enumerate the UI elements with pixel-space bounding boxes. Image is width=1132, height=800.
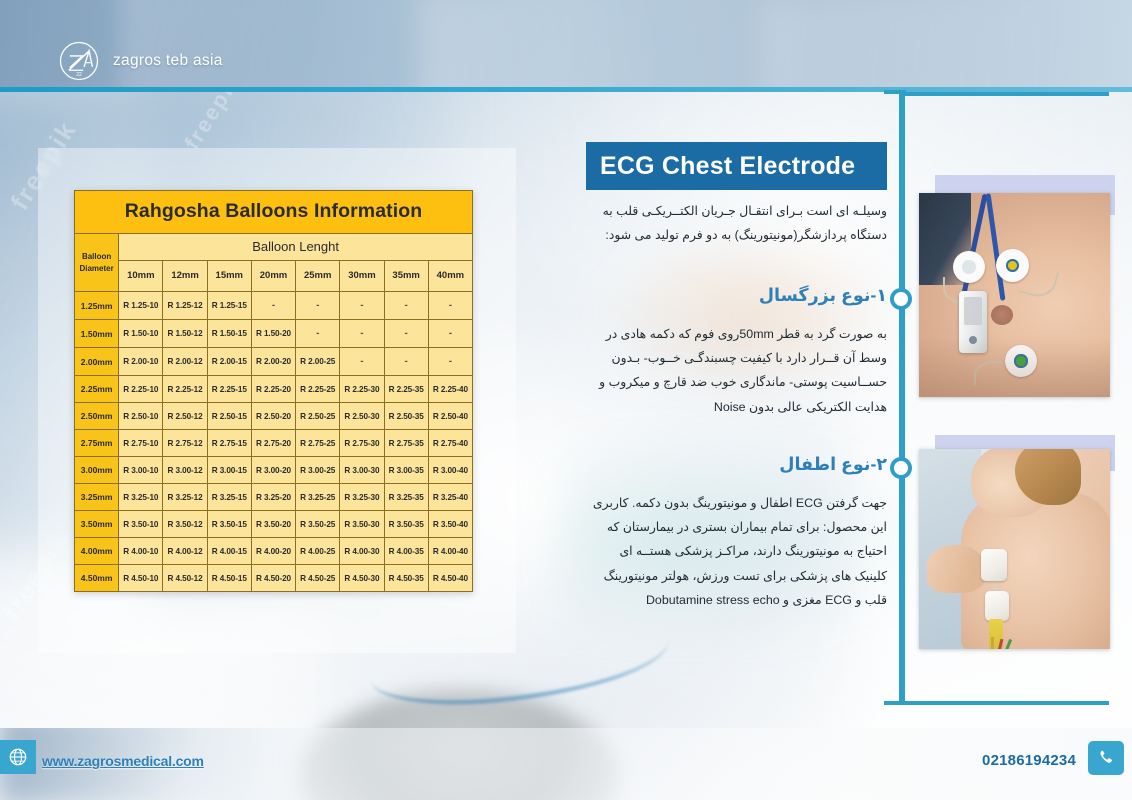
cell-product-code: -	[296, 292, 340, 320]
cell-product-code: R 4.50-35	[384, 565, 428, 592]
table-row: 4.50mmR 4.50-10R 4.50-12R 4.50-15R 4.50-…	[75, 565, 473, 592]
length-column-header-row: 10mm12mm15mm20mm25mm30mm35mm40mm	[75, 261, 473, 292]
header-fabric-fold	[760, 0, 1060, 92]
cell-product-code: R 2.00-20	[251, 348, 295, 376]
cell-product-code: R 1.50-12	[163, 320, 207, 348]
column-header-length: 35mm	[384, 261, 428, 292]
cell-product-code: R 2.25-12	[163, 376, 207, 403]
cell-product-code: R 4.50-25	[296, 565, 340, 592]
anatomy-detail	[991, 305, 1013, 325]
cell-product-code: R 1.50-10	[119, 320, 163, 348]
section-heading-pediatric: ۲-نوع اطفال	[586, 454, 887, 475]
cell-product-code: R 4.00-40	[428, 538, 472, 565]
cell-product-code: R 4.00-10	[119, 538, 163, 565]
table-row: 4.00mmR 4.00-10R 4.00-12R 4.00-15R 4.00-…	[75, 538, 473, 565]
cell-balloon-diameter: 3.50mm	[75, 511, 119, 538]
frame-vertical-line	[899, 92, 903, 705]
cell-product-code: R 4.50-15	[207, 565, 251, 592]
cell-product-code: R 3.50-12	[163, 511, 207, 538]
cell-balloon-diameter: 2.00mm	[75, 348, 119, 376]
cell-product-code: -	[428, 348, 472, 376]
table-row: 3.50mmR 3.50-10R 3.50-12R 3.50-15R 3.50-…	[75, 511, 473, 538]
cell-product-code: R 4.00-25	[296, 538, 340, 565]
page-header: 22 zagros teb asia	[0, 0, 1132, 92]
cell-product-code: -	[340, 348, 384, 376]
cell-product-code: R 1.50-20	[251, 320, 295, 348]
cell-product-code: R 4.50-40	[428, 565, 472, 592]
phone-icon-chip[interactable]	[1088, 741, 1124, 775]
cell-product-code: R 3.50-15	[207, 511, 251, 538]
section-heading-adult: ۱-نوع بزرگسال	[586, 285, 887, 306]
timeline-node-pediatric	[890, 457, 912, 479]
cell-balloon-diameter: 2.50mm	[75, 403, 119, 430]
section-body-adult: به صورت گرد به قطر 50mmروی فوم که دکمه ه…	[586, 322, 887, 419]
poster-page: freepik freepik freepik 22 zagros teb as…	[0, 0, 1132, 800]
column-header-length: 10mm	[119, 261, 163, 292]
cell-product-code: R 2.00-25	[296, 348, 340, 376]
cell-product-code: R 2.50-30	[340, 403, 384, 430]
cell-product-code: R 3.00-40	[428, 457, 472, 484]
cell-product-code: R 2.00-10	[119, 348, 163, 376]
cell-product-code: R 2.75-20	[251, 430, 295, 457]
frame-tick-top	[884, 90, 906, 94]
product-image-pediatric	[919, 449, 1110, 649]
cell-product-code: R 3.50-10	[119, 511, 163, 538]
table-row: 3.25mmR 3.25-10R 3.25-12R 3.25-15R 3.25-…	[75, 484, 473, 511]
product-title-banner: ECG Chest Electrode	[586, 142, 887, 190]
cell-balloon-diameter: 3.00mm	[75, 457, 119, 484]
cell-product-code: R 4.00-12	[163, 538, 207, 565]
clinician-hand	[927, 545, 987, 593]
product-intro-text: وسیلـه ای است بـرای انتقـال جـریان الکتـ…	[586, 200, 887, 248]
cell-product-code: R 2.75-30	[340, 430, 384, 457]
cell-product-code: R 3.00-15	[207, 457, 251, 484]
cell-product-code: R 1.25-12	[163, 292, 207, 320]
column-header-length: 20mm	[251, 261, 295, 292]
diameter-header-line2: Diameter	[79, 264, 113, 273]
cell-balloon-diameter: 2.25mm	[75, 376, 119, 403]
cell-product-code: R 4.50-30	[340, 565, 384, 592]
cell-product-code: R 1.50-15	[207, 320, 251, 348]
product-image-pediatric-slot	[919, 435, 1115, 649]
cell-balloon-diameter: 2.75mm	[75, 430, 119, 457]
round-ecg-electrode	[996, 249, 1029, 282]
cell-product-code: R 3.25-40	[428, 484, 472, 511]
round-ecg-electrode	[953, 251, 985, 283]
cell-product-code: R 3.00-12	[163, 457, 207, 484]
balloons-table-container: Rahgosha Balloons Information Balloon Di…	[74, 190, 473, 592]
cell-balloon-diameter: 1.25mm	[75, 292, 119, 320]
cell-product-code: -	[251, 292, 295, 320]
cell-product-code: R 3.50-30	[340, 511, 384, 538]
cell-product-code: R 2.75-25	[296, 430, 340, 457]
cell-product-code: R 2.25-35	[384, 376, 428, 403]
cell-balloon-diameter: 4.50mm	[75, 565, 119, 592]
cell-product-code: R 3.50-40	[428, 511, 472, 538]
cell-product-code: R 3.50-20	[251, 511, 295, 538]
brand-lockup: 22 zagros teb asia	[58, 40, 223, 82]
cell-product-code: R 2.75-15	[207, 430, 251, 457]
cell-product-code: R 2.75-35	[384, 430, 428, 457]
cell-product-code: R 3.25-12	[163, 484, 207, 511]
table-title: Rahgosha Balloons Information	[75, 191, 473, 234]
cell-product-code: R 3.25-10	[119, 484, 163, 511]
globe-icon	[8, 747, 28, 767]
cell-product-code: R 3.00-10	[119, 457, 163, 484]
cell-product-code: R 2.25-40	[428, 376, 472, 403]
cell-product-code: -	[384, 292, 428, 320]
page-title: ECG Chest Electrode	[600, 152, 855, 181]
balloons-table-body: 1.25mmR 1.25-10R 1.25-12R 1.25-15-----1.…	[75, 292, 473, 592]
cell-product-code: R 2.50-40	[428, 403, 472, 430]
cell-product-code: R 2.50-35	[384, 403, 428, 430]
globe-icon-chip[interactable]	[0, 740, 36, 774]
table-row: 2.75mmR 2.75-10R 2.75-12R 2.75-15R 2.75-…	[75, 430, 473, 457]
phone-number: 02186194234	[982, 752, 1076, 769]
cell-product-code: R 1.25-10	[119, 292, 163, 320]
cell-product-code: R 2.75-40	[428, 430, 472, 457]
website-link[interactable]: www.zagrosmedical.com	[42, 753, 204, 769]
column-header-length: 15mm	[207, 261, 251, 292]
cell-product-code: R 4.50-20	[251, 565, 295, 592]
cell-product-code: -	[428, 292, 472, 320]
square-pediatric-electrode	[985, 591, 1009, 621]
cell-product-code: R 3.50-35	[384, 511, 428, 538]
cell-product-code: -	[340, 292, 384, 320]
cell-product-code: R 3.25-20	[251, 484, 295, 511]
square-pediatric-electrode	[981, 549, 1007, 581]
cell-product-code: R 2.50-12	[163, 403, 207, 430]
cell-product-code: R 2.00-15	[207, 348, 251, 376]
cell-product-code: R 4.00-15	[207, 538, 251, 565]
cell-product-code: R 4.50-12	[163, 565, 207, 592]
column-header-balloon-diameter: Balloon Diameter	[75, 234, 119, 292]
cell-product-code: R 4.50-10	[119, 565, 163, 592]
cell-product-code: R 4.00-35	[384, 538, 428, 565]
svg-text:22: 22	[76, 72, 82, 78]
cell-balloon-diameter: 4.00mm	[75, 538, 119, 565]
cell-product-code: R 3.25-35	[384, 484, 428, 511]
table-row: 1.25mmR 1.25-10R 1.25-12R 1.25-15-----	[75, 292, 473, 320]
lead-wire-yellow	[991, 637, 994, 649]
cell-product-code: R 3.00-35	[384, 457, 428, 484]
table-row: 2.50mmR 2.50-10R 2.50-12R 2.50-15R 2.50-…	[75, 403, 473, 430]
phone-icon	[1096, 748, 1116, 768]
cell-product-code: R 2.25-25	[296, 376, 340, 403]
cell-product-code: R 2.25-10	[119, 376, 163, 403]
brand-name: zagros teb asia	[113, 52, 223, 70]
cell-balloon-diameter: 1.50mm	[75, 320, 119, 348]
cell-product-code: R 2.25-15	[207, 376, 251, 403]
table-row: 3.00mmR 3.00-10R 3.00-12R 3.00-15R 3.00-…	[75, 457, 473, 484]
cell-product-code: R 3.25-25	[296, 484, 340, 511]
cell-product-code: R 3.25-15	[207, 484, 251, 511]
cell-product-code: R 2.50-20	[251, 403, 295, 430]
image-vignette	[919, 337, 1110, 397]
cell-balloon-diameter: 3.25mm	[75, 484, 119, 511]
cell-product-code: R 3.00-20	[251, 457, 295, 484]
cell-product-code: R 2.50-15	[207, 403, 251, 430]
cell-product-code: -	[340, 320, 384, 348]
table-row: 2.25mmR 2.25-10R 2.25-12R 2.25-15R 2.25-…	[75, 376, 473, 403]
cell-product-code: R 4.00-30	[340, 538, 384, 565]
table-row: 1.50mmR 1.50-10R 1.50-12R 1.50-15R 1.50-…	[75, 320, 473, 348]
balloons-table: Rahgosha Balloons Information Balloon Di…	[74, 190, 473, 592]
cell-product-code: -	[384, 320, 428, 348]
cell-product-code: -	[296, 320, 340, 348]
cell-product-code: -	[384, 348, 428, 376]
cell-product-code: R 3.50-25	[296, 511, 340, 538]
column-header-length: 12mm	[163, 261, 207, 292]
cell-product-code: R 1.25-15	[207, 292, 251, 320]
cell-product-code: R 3.25-30	[340, 484, 384, 511]
cell-product-code: R 2.00-12	[163, 348, 207, 376]
cell-product-code: R 2.50-10	[119, 403, 163, 430]
cell-product-code: -	[428, 320, 472, 348]
column-group-header-balloon-length: Balloon Lenght	[119, 234, 473, 261]
column-header-length: 40mm	[428, 261, 472, 292]
column-header-length: 25mm	[296, 261, 340, 292]
za-monogram-logo-icon: 22	[58, 40, 100, 82]
frame-tick-bottom	[884, 701, 906, 705]
cell-product-code: R 2.25-30	[340, 376, 384, 403]
diameter-header-line1: Balloon	[82, 252, 111, 261]
cell-product-code: R 4.00-20	[251, 538, 295, 565]
cell-product-code: R 2.75-12	[163, 430, 207, 457]
product-image-adult	[919, 193, 1110, 397]
cell-product-code: R 3.00-30	[340, 457, 384, 484]
header-fabric-fold	[420, 0, 660, 92]
cell-product-code: R 2.25-20	[251, 376, 295, 403]
cell-product-code: R 3.00-25	[296, 457, 340, 484]
cell-product-code: R 2.75-10	[119, 430, 163, 457]
table-row: 2.00mmR 2.00-10R 2.00-12R 2.00-15R 2.00-…	[75, 348, 473, 376]
cell-product-code: R 2.50-25	[296, 403, 340, 430]
timeline-node-adult	[890, 288, 912, 310]
column-header-length: 30mm	[340, 261, 384, 292]
section-body-pediatric: جهت گرفتن ECG اطفال و مونیتورینگ بدون دک…	[586, 491, 887, 612]
product-image-adult-slot	[919, 175, 1115, 397]
